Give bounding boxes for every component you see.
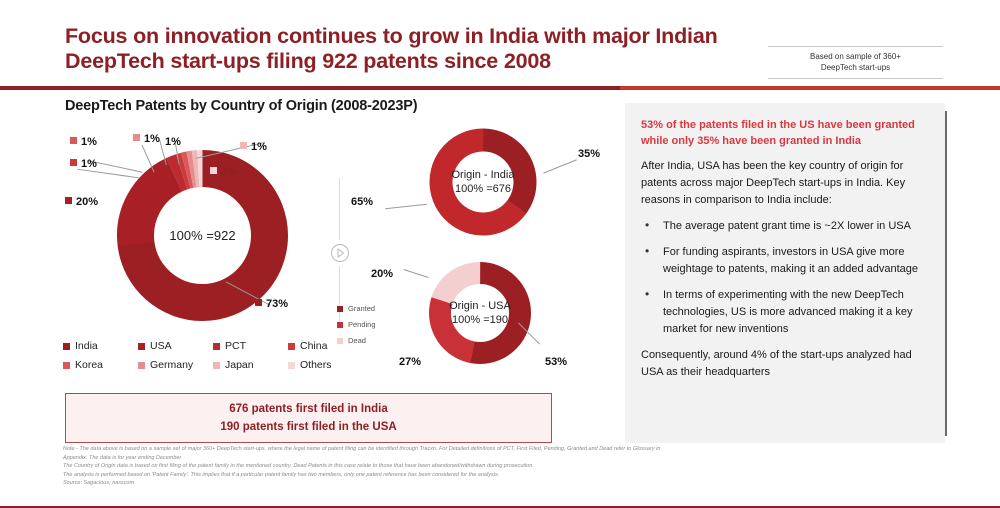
label-japan: 1% xyxy=(165,136,181,148)
country-legend-row-2: Korea Germany Japan Others xyxy=(63,359,363,371)
footnote-line-5: Source: Sagacious; nasscom xyxy=(63,480,943,488)
insights-bullet-3: In terms of experimenting with the new D… xyxy=(641,287,929,338)
legend-item-usa[interactable]: USA xyxy=(138,340,213,352)
leader-line-india-pending xyxy=(385,204,427,209)
insights-closing: Consequently, around 4% of the start-ups… xyxy=(641,347,929,381)
insights-panel: 53% of the patents filed in the US have … xyxy=(625,103,945,443)
usa-donut-center: Origin - USA 100% =190 xyxy=(425,258,535,368)
label-usa: 20% xyxy=(65,196,98,208)
separator-line-top xyxy=(339,178,340,240)
label-china: 1% xyxy=(70,158,97,170)
sample-note: Based on sample of 360+ DeepTech start-u… xyxy=(768,46,943,79)
footnote-line-4: The analysis is performed based on 'Pate… xyxy=(63,472,943,480)
status-legend-pending[interactable]: Pending xyxy=(337,320,376,329)
footnotes: Note - The data above is based on a samp… xyxy=(63,446,943,489)
usa-label-pending: 27% xyxy=(399,356,421,368)
footnote-line-2: Appendix. The data is for year ending De… xyxy=(63,455,943,463)
india-label-pending: 65% xyxy=(351,196,373,208)
sample-note-line2: DeepTech start-ups xyxy=(768,62,943,73)
status-legend-granted[interactable]: Granted xyxy=(337,304,376,313)
header-divider-gap xyxy=(0,90,1000,92)
slide-container: Focus on innovation continues to grow in… xyxy=(55,18,945,483)
chart-section-title: DeepTech Patents by Country of Origin (2… xyxy=(65,98,417,114)
india-center-line1: Origin - India xyxy=(452,168,515,182)
play-circle-icon[interactable] xyxy=(330,243,350,263)
leader-line-india-granted xyxy=(543,159,577,173)
label-others: 1% xyxy=(240,141,267,153)
insights-paragraph: After India, USA has been the key countr… xyxy=(641,158,929,209)
page-title: Focus on innovation continues to grow in… xyxy=(65,24,765,74)
usa-label-granted: 53% xyxy=(545,356,567,368)
callout-line-1: 676 patents first filed in India xyxy=(229,400,387,418)
callout-line-2: 190 patents first filed in the USA xyxy=(220,418,396,436)
usa-label-dead: 20% xyxy=(371,268,393,280)
callout-box: 676 patents first filed in India 190 pat… xyxy=(65,393,552,443)
label-india: 73% xyxy=(255,298,288,310)
label-germany: 1% xyxy=(133,133,160,145)
india-label-granted: 35% xyxy=(578,148,600,160)
footnote-line-1: Note - The data above is based on a samp… xyxy=(63,446,943,454)
status-legend-dead[interactable]: Dead xyxy=(337,336,376,345)
usa-center-line2: 100% =190 xyxy=(452,313,508,327)
label-korea: 1% xyxy=(70,136,97,148)
legend-item-germany[interactable]: Germany xyxy=(138,359,213,371)
footnote-line-3: The Country of Origin data is based on f… xyxy=(63,463,943,471)
insights-bullet-1: The average patent grant time is ~2X low… xyxy=(641,218,929,235)
origin-india-donut[interactable]: Origin - India 100% =676 xyxy=(425,124,541,240)
status-legend: Granted Pending Dead xyxy=(337,304,376,352)
slide-header: Focus on innovation continues to grow in… xyxy=(55,18,945,86)
india-donut-center: Origin - India 100% =676 xyxy=(425,124,541,240)
legend-item-korea[interactable]: Korea xyxy=(63,359,138,371)
country-legend: India USA PCT China Korea Germany Japan … xyxy=(63,340,363,378)
insights-bullet-list: The average patent grant time is ~2X low… xyxy=(641,218,929,338)
insights-bullet-2: For funding aspirants, investors in USA … xyxy=(641,244,929,278)
legend-item-india[interactable]: India xyxy=(63,340,138,352)
label-pct: 2% xyxy=(210,166,237,178)
insights-headline: 53% of the patents filed in the US have … xyxy=(641,117,929,149)
legend-item-pct[interactable]: PCT xyxy=(213,340,288,352)
panel-divider xyxy=(945,111,947,436)
legend-item-japan[interactable]: Japan xyxy=(213,359,288,371)
origin-usa-donut[interactable]: Origin - USA 100% =190 xyxy=(425,258,535,368)
india-center-line2: 100% =676 xyxy=(455,182,511,196)
charts-panel: 100% =922 1% 1% 1% 1% 1% 20% 2% 73% Indi… xyxy=(55,118,625,418)
country-legend-row-1: India USA PCT China xyxy=(63,340,363,352)
sample-note-line1: Based on sample of 360+ xyxy=(768,51,943,62)
usa-center-line1: Origin - USA xyxy=(449,299,511,313)
legend-item-others[interactable]: Others xyxy=(288,359,363,371)
